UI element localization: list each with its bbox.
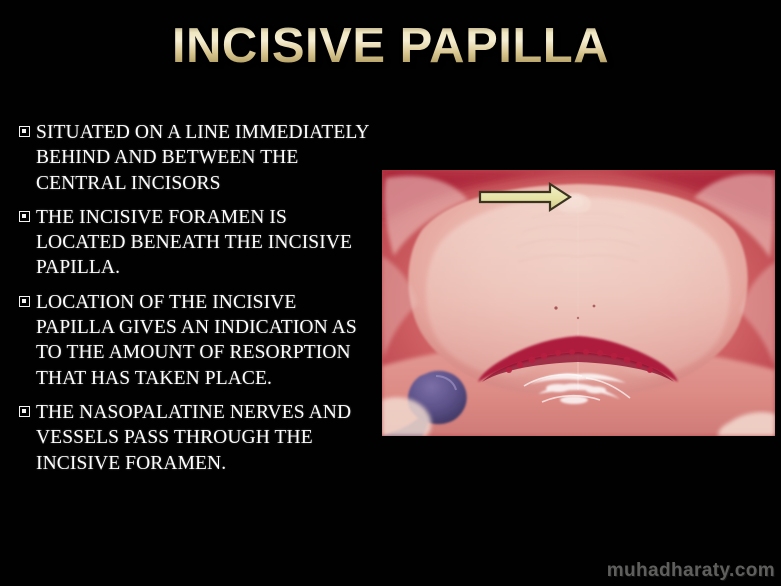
watermark-text: muhadharaty.com <box>607 560 775 582</box>
list-item-text: LOCATION OF THE INCISIVE PAPILLA GIVES A… <box>36 290 382 391</box>
photo-graphic <box>382 170 775 436</box>
square-in-square-bullet-icon <box>0 205 36 222</box>
slide-canvas: INCISIVE PAPILLA SITUATED ON A LINE IMME… <box>0 0 781 586</box>
square-in-square-bullet-icon <box>0 290 36 307</box>
list-item: SITUATED ON A LINE IMMEDIATELY BEHIND AN… <box>0 120 382 196</box>
page-title: INCISIVE PAPILLA <box>0 18 781 74</box>
square-in-square-bullet-icon <box>0 120 36 137</box>
list-item-text: SITUATED ON A LINE IMMEDIATELY BEHIND AN… <box>36 120 382 196</box>
list-item: THE NASOPALATINE NERVES AND VESSELS PASS… <box>0 400 382 476</box>
square-in-square-bullet-icon <box>0 400 36 417</box>
intraoral-maxillary-arch-photo <box>382 170 775 436</box>
bullet-list: SITUATED ON A LINE IMMEDIATELY BEHIND AN… <box>0 120 382 485</box>
list-item-text: THE INCISIVE FORAMEN IS LOCATED BENEATH … <box>36 205 382 281</box>
list-item-text: THE NASOPALATINE NERVES AND VESSELS PASS… <box>36 400 382 476</box>
list-item: THE INCISIVE FORAMEN IS LOCATED BENEATH … <box>0 205 382 281</box>
list-item: LOCATION OF THE INCISIVE PAPILLA GIVES A… <box>0 290 382 391</box>
